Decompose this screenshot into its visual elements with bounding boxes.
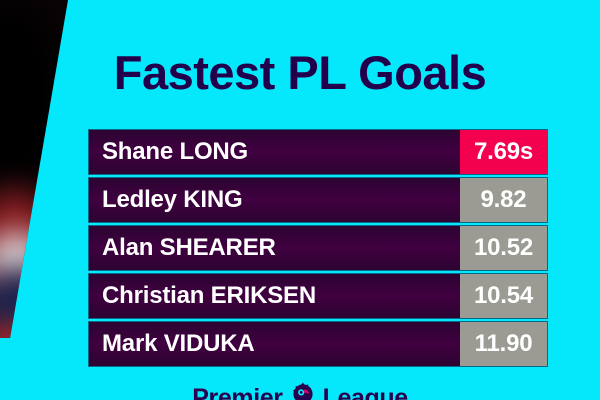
row-value-cell: 10.52 <box>460 226 547 270</box>
player-time-value: 7.69s <box>474 139 533 165</box>
player-name: Mark VIDUKA <box>102 331 255 357</box>
brand-word-premier: Premier <box>192 385 282 400</box>
row-value-cell: 9.82 <box>460 178 547 222</box>
fastest-pl-goals-graphic: Fastest PL Goals Shane LONG 7.69s Ledley… <box>0 0 600 400</box>
premier-league-logo: Premier League <box>0 385 600 400</box>
ranking-list: Shane LONG 7.69s Ledley KING 9.82 Alan S… <box>89 130 547 370</box>
player-name: Alan SHEARER <box>102 235 276 261</box>
row-name-cell: Ledley KING <box>89 178 460 222</box>
row-name-cell: Mark VIDUKA <box>89 322 460 366</box>
row-name-cell: Alan SHEARER <box>89 226 460 270</box>
player-time-value: 10.54 <box>474 283 533 309</box>
row-value-cell: 10.54 <box>460 274 547 318</box>
player-time-value: 10.52 <box>474 235 533 261</box>
player-name: Shane LONG <box>102 139 248 165</box>
player-name: Ledley KING <box>102 187 243 213</box>
player-name: Christian ERIKSEN <box>102 283 316 309</box>
row-value-cell: 11.90 <box>460 322 547 366</box>
table-row: Ledley KING 9.82 <box>89 178 547 222</box>
page-title: Fastest PL Goals <box>0 47 600 99</box>
row-name-cell: Shane LONG <box>89 130 460 174</box>
table-row: Shane LONG 7.69s <box>89 130 547 174</box>
player-time-value: 9.82 <box>481 187 527 213</box>
row-value-cell: 7.69s <box>460 130 547 174</box>
player-time-value: 11.90 <box>475 331 533 357</box>
table-row: Christian ERIKSEN 10.54 <box>89 274 547 318</box>
table-row: Alan SHEARER 10.52 <box>89 226 547 270</box>
brand-word-league: League <box>323 385 408 400</box>
table-row: Mark VIDUKA 11.90 <box>89 322 547 366</box>
row-name-cell: Christian ERIKSEN <box>89 274 460 318</box>
premier-league-lion-crest-icon <box>290 380 316 400</box>
